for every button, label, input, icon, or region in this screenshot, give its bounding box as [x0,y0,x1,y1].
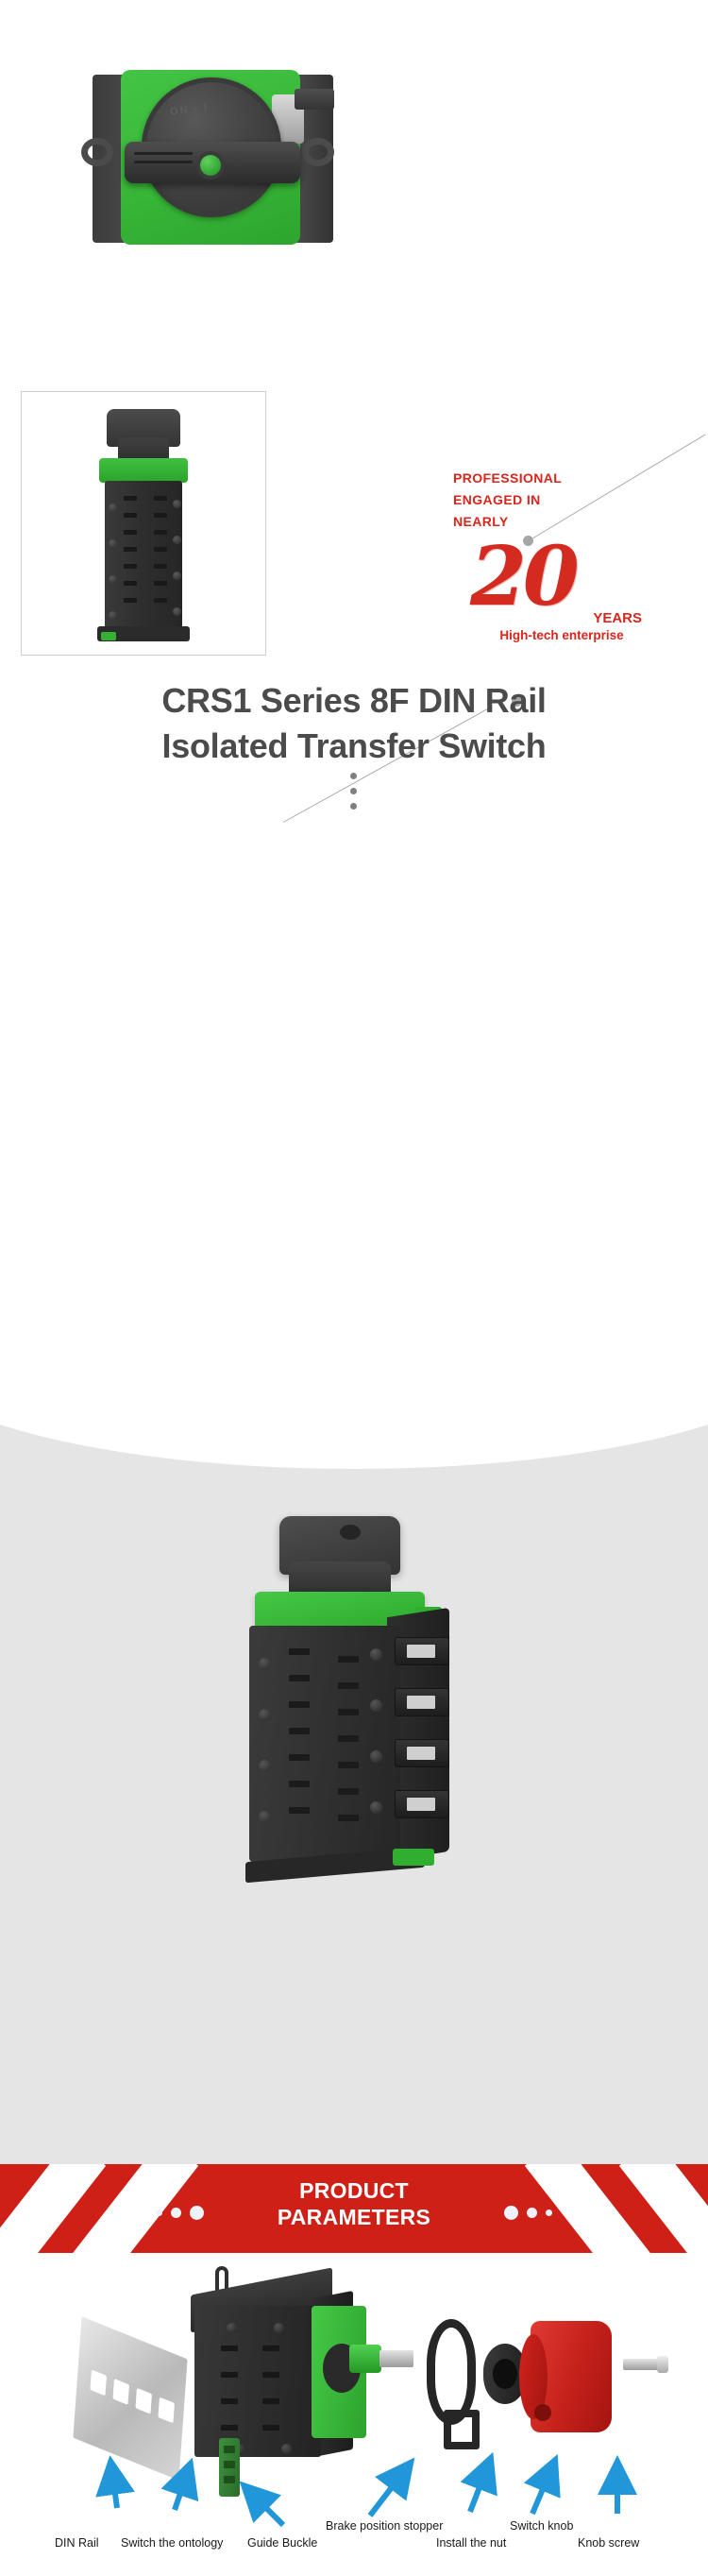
page-title-line-1: CRS1 Series 8F DIN Rail [0,678,708,724]
showcase-section [0,1341,708,2173]
arrow-nut [470,2463,489,2512]
curved-divider [0,1341,708,1469]
arrow-switch-body [175,2468,189,2510]
intro-section: PROFESSIONAL ENGAGED IN NEARLY 20 YEARS … [0,378,708,1341]
exploded-diagram-section: DIN Rail Switch the ontology Guide Buckl… [0,2253,708,2576]
label-install-nut: Install the nut [436,2536,506,2550]
dot [350,803,357,810]
knob-hole [340,1525,361,1540]
mounting-ear-left [81,138,113,166]
label-knob-screw: Knob screw [578,2536,639,2550]
badge-number: 20 [470,538,670,616]
badge-line-1: PROFESSIONAL [453,468,670,489]
arrow-guide-buckle [247,2489,283,2525]
handle-hub [200,155,221,176]
label-din-rail: DIN Rail [55,2536,99,2550]
banner-dots-right [504,2206,552,2220]
page-title-line-2: Isolated Transfer Switch [0,724,708,769]
anniversary-badge: PROFESSIONAL ENGAGED IN NEARLY 20 YEARS … [453,468,670,642]
badge-subtitle: High-tech enterprise [453,628,670,642]
hero-product-image: ON - I [83,62,338,251]
banner-title: PRODUCT PARAMETERS [0,2177,708,2230]
side-clip [295,89,334,110]
mounting-ear-right [302,138,334,166]
foot-buckle [393,1849,434,1866]
product-parameters-banner: PRODUCT PARAMETERS [0,2164,708,2253]
label-guide-buckle: Guide Buckle [247,2536,317,2550]
dot [350,773,357,779]
label-brake-stopper: Brake position stopper [326,2519,443,2533]
arrow-switch-knob [532,2465,553,2514]
page-title: CRS1 Series 8F DIN Rail Isolated Transfe… [0,678,708,768]
label-switch-body: Switch the ontology [121,2536,223,2550]
showcase-product-image [236,1516,472,1922]
scroll-indicator-dots [350,773,357,818]
switch-body [249,1626,400,1862]
arrow-din-rail [111,2466,117,2508]
label-switch-knob: Switch knob [510,2519,573,2533]
switch-body [105,481,182,630]
hero-section: ON - I [0,0,708,378]
arrow-brake-stopper [370,2466,408,2516]
product-photo-frame [21,391,266,656]
banner-title-line-2: PARAMETERS [0,2204,708,2230]
dot [350,788,357,794]
banner-title-line-1: PRODUCT [0,2177,708,2204]
badge-line-2: ENGAGED IN [453,489,670,511]
foot-buckle [101,632,116,640]
product-front-view [92,409,195,643]
green-cap [99,458,188,483]
